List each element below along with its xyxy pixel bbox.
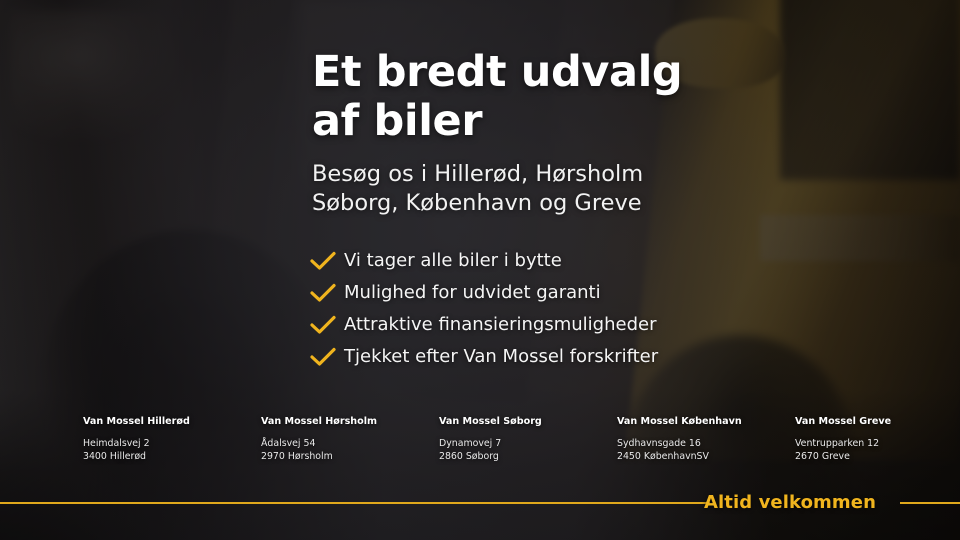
- dealer-name: Van Mossel Hørsholm: [261, 415, 439, 428]
- subtitle: Besøg os i Hillerød, Hørsholm Søborg, Kø…: [312, 160, 742, 218]
- dealer-street: Dynamovej 7: [439, 438, 617, 451]
- feature-item: Tjekket efter Van Mossel forskrifter: [308, 342, 788, 372]
- check-icon: [308, 250, 338, 272]
- dealer-street: Ventrupparken 12: [795, 438, 960, 451]
- feature-item-label: Vi tager alle biler i bytte: [344, 250, 562, 272]
- dealer-location: Van Mossel GreveVentrupparken 122670 Gre…: [795, 415, 960, 463]
- feature-item: Vi tager alle biler i bytte: [308, 246, 788, 276]
- headline-line-1: Et bredt udvalg: [312, 47, 682, 97]
- footer-rule-right: [900, 502, 960, 504]
- feature-item: Attraktive finansieringsmuligheder: [308, 310, 788, 340]
- headline-line-2: af biler: [312, 97, 732, 146]
- subtitle-line-2: Søborg, København og Greve: [312, 189, 742, 218]
- welcome-tagline: Altid velkommen: [704, 490, 876, 515]
- dealer-city: 2670 Greve: [795, 451, 960, 464]
- check-icon: [308, 346, 338, 368]
- footer-bar: Altid velkommen: [0, 478, 960, 540]
- feature-item-label: Attraktive finansieringsmuligheder: [344, 314, 656, 336]
- banner-content: Et bredt udvalg af biler Besøg os i Hill…: [0, 0, 960, 540]
- feature-item: Mulighed for udvidet garanti: [308, 278, 788, 308]
- feature-item-label: Mulighed for udvidet garanti: [344, 282, 601, 304]
- dealer-street: Ådalsvej 54: [261, 438, 439, 451]
- check-icon: [308, 282, 338, 304]
- subtitle-line-1: Besøg os i Hillerød, Hørsholm: [312, 161, 643, 187]
- dealer-name: Van Mossel Søborg: [439, 415, 617, 428]
- dealer-name: Van Mossel København: [617, 415, 795, 428]
- dealer-street: Heimdalsvej 2: [83, 438, 261, 451]
- feature-item-label: Tjekket efter Van Mossel forskrifter: [344, 346, 658, 368]
- dealer-location: Van Mossel HørsholmÅdalsvej 542970 Hørsh…: [261, 415, 439, 463]
- dealer-city: 3400 Hillerød: [83, 451, 261, 464]
- dealer-location: Van Mossel KøbenhavnSydhavnsgade 162450 …: [617, 415, 795, 463]
- page-title: Et bredt udvalg af biler: [312, 48, 732, 146]
- feature-list: Vi tager alle biler i bytteMulighed for …: [308, 246, 788, 374]
- dealer-name: Van Mossel Greve: [795, 415, 960, 428]
- dealer-city: 2970 Hørsholm: [261, 451, 439, 464]
- check-icon: [308, 314, 338, 336]
- dealer-city: 2450 KøbenhavnSV: [617, 451, 795, 464]
- footer-rule-left: [0, 502, 710, 504]
- dealer-street: Sydhavnsgade 16: [617, 438, 795, 451]
- dealer-city: 2860 Søborg: [439, 451, 617, 464]
- dealer-location: Van Mossel HillerødHeimdalsvej 23400 Hil…: [83, 415, 261, 463]
- dealer-location: Van Mossel SøborgDynamovej 72860 Søborg: [439, 415, 617, 463]
- dealer-locations: Van Mossel HillerødHeimdalsvej 23400 Hil…: [83, 415, 913, 463]
- dealer-name: Van Mossel Hillerød: [83, 415, 261, 428]
- promo-banner: Et bredt udvalg af biler Besøg os i Hill…: [0, 0, 960, 540]
